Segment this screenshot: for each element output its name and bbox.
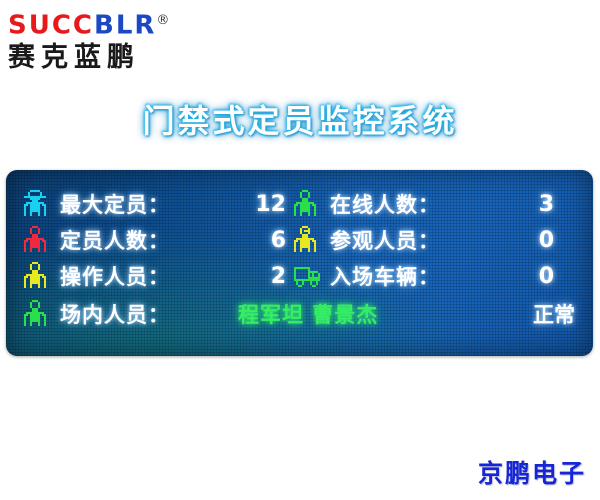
icon-cell-onsite-personnel <box>22 300 60 328</box>
page-title: 门禁式定员监控系统 <box>0 96 600 142</box>
person-icon <box>22 226 48 254</box>
led-label-online-count: 在线人数： <box>330 189 490 219</box>
person-icon <box>292 190 318 218</box>
led-panel-content: 最大定员： 12 <box>6 170 593 356</box>
led-display-panel: 最大定员： 12 <box>6 170 593 356</box>
led-value-max-capacity: 12 <box>220 192 292 217</box>
icon-cell-online-count <box>292 190 330 218</box>
led-stats-grid: 最大定员： 12 <box>22 186 581 294</box>
brand-chinese-name: 赛克蓝鹏 <box>8 42 238 74</box>
person-with-hat-icon <box>22 190 48 218</box>
led-label-max-capacity: 最大定员： <box>60 189 220 219</box>
led-value-vehicle-count: 0 <box>490 264 560 289</box>
brand-latin-wordmark: SUCCBLR® <box>8 6 238 41</box>
company-logo: SUCCBLR® 赛克蓝鹏 <box>8 6 238 74</box>
led-value-assigned-count: 6 <box>220 228 292 253</box>
icon-cell-visitor-count <box>292 226 330 254</box>
led-label-onsite-personnel: 场内人员： <box>60 299 220 329</box>
person-icon <box>22 262 48 290</box>
registered-trademark-icon: ® <box>156 13 169 28</box>
led-label-vehicle-count: 入场车辆： <box>330 261 490 291</box>
person-icon <box>292 226 318 254</box>
led-value-online-count: 3 <box>490 192 560 217</box>
truck-icon <box>292 263 322 289</box>
icon-cell-max-capacity <box>22 190 60 218</box>
led-value-visitor-count: 0 <box>490 228 560 253</box>
status-badge: 正常 <box>511 299 581 329</box>
person-icon <box>22 300 48 328</box>
led-value-operator-count: 2 <box>220 264 292 289</box>
brand-latin-blue: BLR <box>94 11 156 41</box>
footer-company-mark: 京鹏电子 <box>478 454 586 490</box>
led-onsite-personnel-row: 场内人员： 程军坦 曹景杰 正常 <box>22 296 581 332</box>
led-onsite-personnel-names: 程军坦 曹景杰 <box>220 299 511 329</box>
icon-cell-assigned-count <box>22 226 60 254</box>
icon-cell-vehicle-count <box>292 263 330 289</box>
brand-latin-red: SUCC <box>8 11 94 41</box>
led-label-operator-count: 操作人员： <box>60 261 220 291</box>
icon-cell-operator-count <box>22 262 60 290</box>
led-label-visitor-count: 参观人员： <box>330 225 490 255</box>
led-label-assigned-count: 定员人数： <box>60 225 220 255</box>
